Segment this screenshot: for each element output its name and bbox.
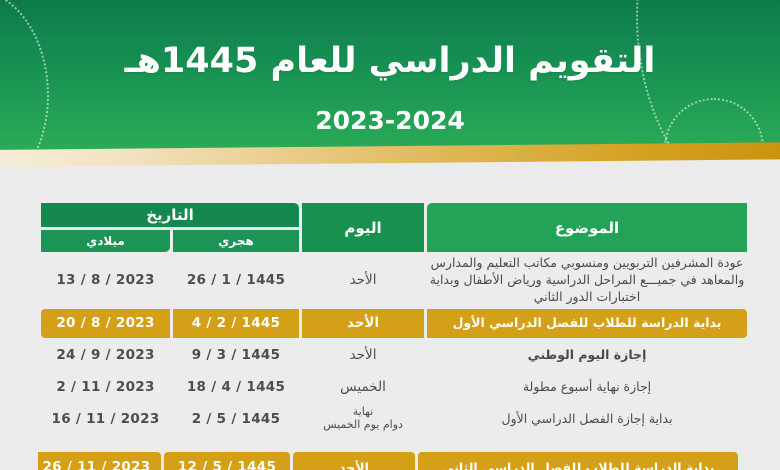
page-banner: التقويم الدراسي للعام 1445هـ 2023-2024 — [0, 0, 780, 152]
table-row[interactable]: بداية الدراسة للطلاب للفصل الدراسي الأول… — [41, 309, 747, 338]
cell-date-hijri: 4 / 2 / 1445 — [173, 309, 299, 338]
cell-subject: عودة المشرفين التربويين ومنسوبي مكاتب ال… — [427, 255, 747, 306]
academic-calendar-table: الموضوع اليوم التاريخ هجري ميلادي عودة ا… — [38, 200, 750, 437]
table-row[interactable]: إجازة اليوم الوطنيالأحد9 / 3 / 144524 / … — [41, 341, 747, 370]
cell-date-gregorian: 24 / 9 / 2023 — [41, 341, 170, 370]
table-row[interactable]: إجازة نهاية أسبوع مطولةالخميس18 / 4 / 14… — [41, 373, 747, 402]
cell-date-hijri: 18 / 4 / 1445 — [173, 373, 299, 402]
column-header-date-gregorian: ميلادي — [41, 230, 170, 253]
cell-day: نهايةدوام يوم الخميس — [302, 405, 424, 434]
cell-day-note: دوام يوم الخميس — [302, 419, 424, 432]
column-header-date-hijri: هجري — [173, 230, 299, 253]
cell-date-hijri: 26 / 1 / 1445 — [173, 255, 299, 306]
column-header-subject: الموضوع — [427, 203, 747, 252]
cell-subject: بداية إجازة الفصل الدراسي الأول — [427, 405, 747, 434]
cell-subject: بداية الدراسة للطلاب للفصل الدراسي الثان… — [418, 452, 738, 470]
column-header-date: التاريخ — [41, 203, 299, 227]
column-header-day: اليوم — [302, 203, 424, 252]
cell-day: الأحد — [302, 255, 424, 306]
cell-subject: إجازة اليوم الوطني — [427, 341, 747, 370]
cell-date-hijri: 2 / 5 / 1445 — [173, 405, 299, 434]
clipped-bottom-row: بداية الدراسة للطلاب للفصل الدراسي الثان… — [38, 452, 741, 470]
cell-day: الأحد — [302, 341, 424, 370]
cell-date-gregorian: 20 / 8 / 2023 — [41, 309, 170, 338]
table-header: الموضوع اليوم التاريخ هجري ميلادي — [41, 203, 747, 252]
table-row[interactable]: عودة المشرفين التربويين ومنسوبي مكاتب ال… — [41, 255, 747, 306]
table-header-row-top: الموضوع اليوم التاريخ — [41, 203, 747, 227]
cell-day: الأحد — [293, 452, 415, 470]
cell-date-gregorian: 26 / 11 / 2023 — [38, 452, 161, 470]
table-body: عودة المشرفين التربويين ومنسوبي مكاتب ال… — [41, 255, 747, 434]
cell-subject: بداية الدراسة للطلاب للفصل الدراسي الأول — [427, 309, 747, 338]
cell-subject: إجازة نهاية أسبوع مطولة — [427, 373, 747, 402]
table-row[interactable]: بداية الدراسة للطلاب للفصل الدراسي الثان… — [38, 452, 738, 470]
table-row[interactable]: بداية إجازة الفصل الدراسي الأولنهايةدوام… — [41, 405, 747, 434]
cell-day: الخميس — [302, 373, 424, 402]
page-subtitle: 2023-2024 — [0, 107, 780, 135]
cell-date-gregorian: 2 / 11 / 2023 — [41, 373, 170, 402]
cell-date-gregorian: 13 / 8 / 2023 — [41, 255, 170, 306]
page-title: التقويم الدراسي للعام 1445هـ — [0, 42, 780, 81]
cell-day: الأحد — [302, 309, 424, 338]
cell-date-hijri: 9 / 3 / 1445 — [173, 341, 299, 370]
cell-date-gregorian: 16 / 11 / 2023 — [41, 405, 170, 434]
cell-date-hijri: 12 / 5 / 1445 — [164, 452, 290, 470]
